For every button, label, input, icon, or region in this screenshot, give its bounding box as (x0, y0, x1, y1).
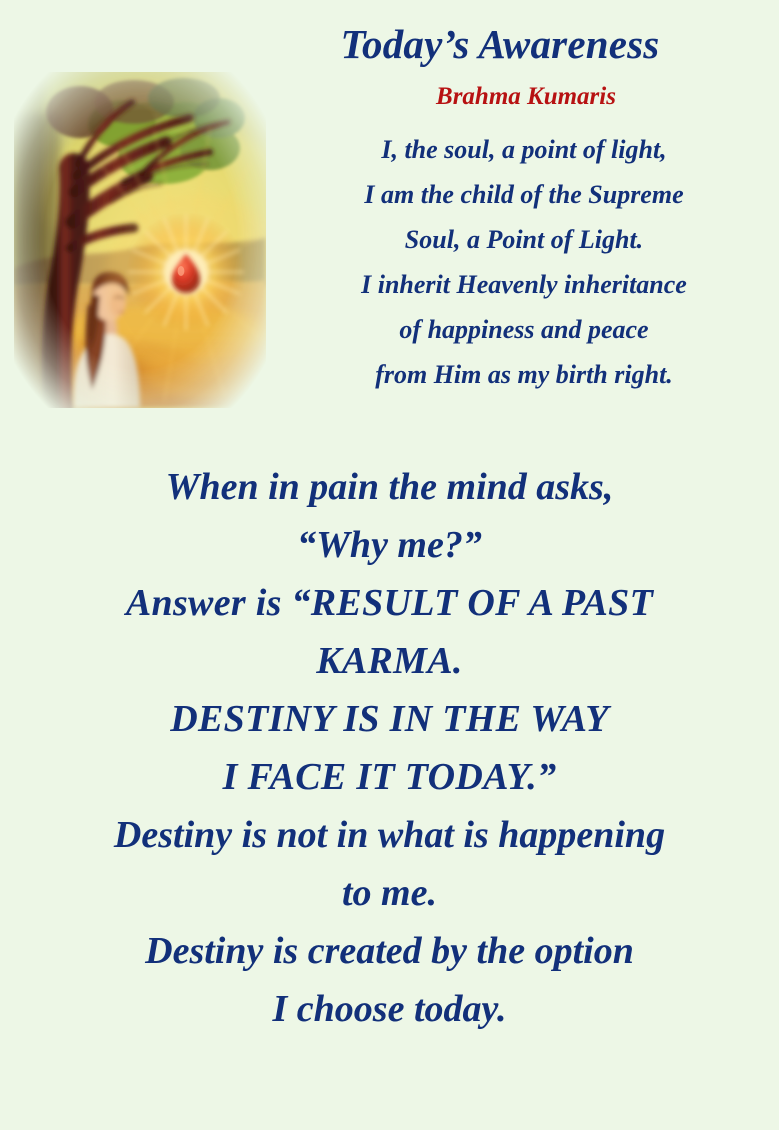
artwork-image (14, 72, 266, 408)
verse-line: I am the child of the Supreme (284, 172, 764, 217)
message-line: When in pain the mind asks, (8, 458, 771, 516)
message-line: I FACE IT TODAY.” (8, 748, 771, 806)
message-line: I choose today. (8, 980, 771, 1038)
message-line: “Why me?” (8, 516, 771, 574)
message-line: Destiny is not in what is happening (8, 806, 771, 864)
verse-line: from Him as my birth right. (284, 352, 764, 397)
verse-line: of happiness and peace (284, 307, 764, 352)
verse-block: I, the soul, a point of light, I am the … (284, 127, 764, 397)
poster-header: Today’s Awareness Brahma Kumaris I, the … (0, 0, 779, 430)
message-line: Destiny is created by the option (8, 922, 771, 980)
awareness-poster: Today’s Awareness Brahma Kumaris I, the … (0, 0, 779, 1130)
attribution-label: Brahma Kumaris (300, 82, 752, 112)
verse-line: I inherit Heavenly inheritance (284, 262, 764, 307)
page-title: Today’s Awareness (232, 21, 768, 67)
message-line: to me. (8, 864, 771, 922)
message-line: DESTINY IS IN THE WAY (8, 690, 771, 748)
message-block: When in pain the mind asks, “Why me?” An… (8, 458, 771, 1038)
message-line: KARMA. (8, 632, 771, 690)
message-line: Answer is “RESULT OF A PAST (8, 574, 771, 632)
verse-line: I, the soul, a point of light, (284, 127, 764, 172)
verse-line: Soul, a Point of Light. (284, 217, 764, 262)
